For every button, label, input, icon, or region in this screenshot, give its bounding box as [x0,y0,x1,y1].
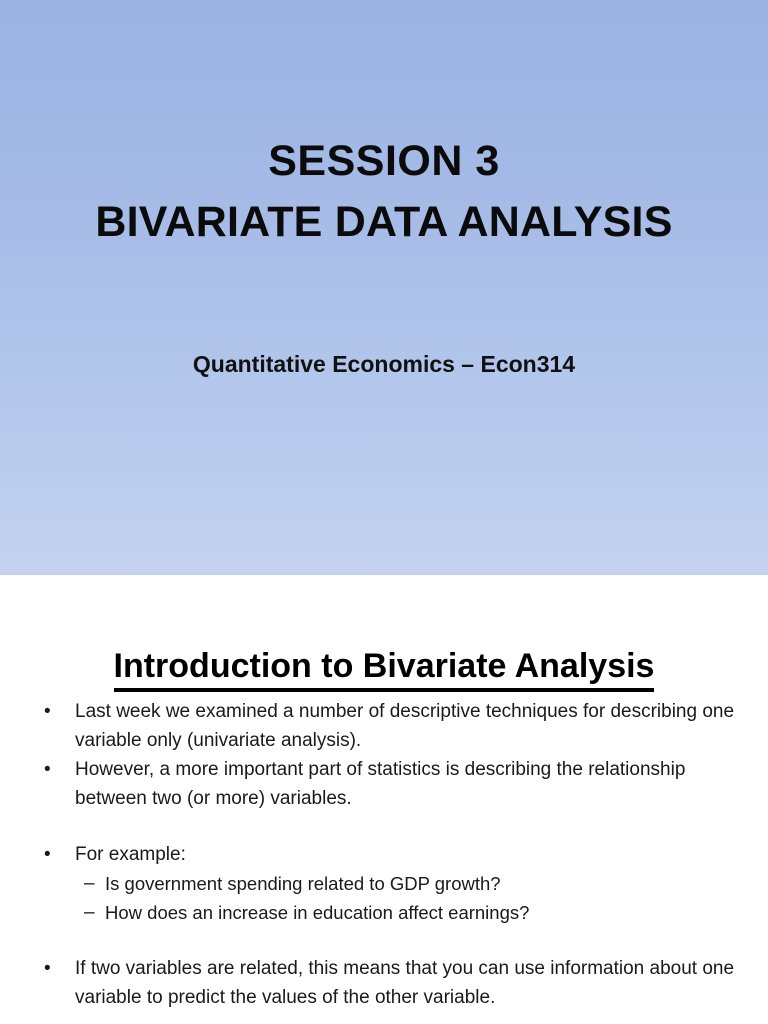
sub-list-item: – Is government spending related to GDP … [0,869,768,898]
list-spacer [0,927,768,954]
sub-list-item-text: How does an increase in education affect… [105,898,746,927]
presentation-page: SESSION 3 BIVARIATE DATA ANALYSIS Quanti… [0,0,768,1024]
list-item-text: However, a more important part of statis… [75,755,746,813]
sub-bullet-marker: – [84,898,108,927]
bullet-marker: • [44,840,68,869]
slide-subtitle: Quantitative Economics – Econ314 [0,348,768,380]
bullet-marker: • [44,755,68,784]
sub-list-item-text: Is government spending related to GDP gr… [105,869,746,898]
list-item: • For example: [0,840,768,869]
list-item-text: If two variables are related, this means… [75,954,746,1012]
content-heading-text: Introduction to Bivariate Analysis [114,645,655,692]
list-item-text: For example: [75,840,746,869]
slide-title-line-2: BIVARIATE DATA ANALYSIS [0,192,768,253]
list-spacer [0,813,768,840]
bullet-marker: • [44,954,68,983]
slide-title-page: SESSION 3 BIVARIATE DATA ANALYSIS Quanti… [0,0,768,575]
subtitle-block: Quantitative Economics – Econ314 [0,348,768,380]
list-item-text: Last week we examined a number of descri… [75,697,746,755]
slide-title-line-1: SESSION 3 [0,131,768,192]
list-item: • However, a more important part of stat… [0,755,768,813]
slide-content-page: Introduction to Bivariate Analysis • Las… [0,575,768,1024]
sub-list-item: – How does an increase in education affe… [0,898,768,927]
sub-bullet-marker: – [84,869,108,898]
list-item: • Last week we examined a number of desc… [0,697,768,755]
bullet-marker: • [44,697,68,726]
title-block: SESSION 3 BIVARIATE DATA ANALYSIS [0,131,768,253]
content-heading: Introduction to Bivariate Analysis [0,645,768,692]
bullet-list: • Last week we examined a number of desc… [0,697,768,1012]
list-item: • If two variables are related, this mea… [0,954,768,1012]
